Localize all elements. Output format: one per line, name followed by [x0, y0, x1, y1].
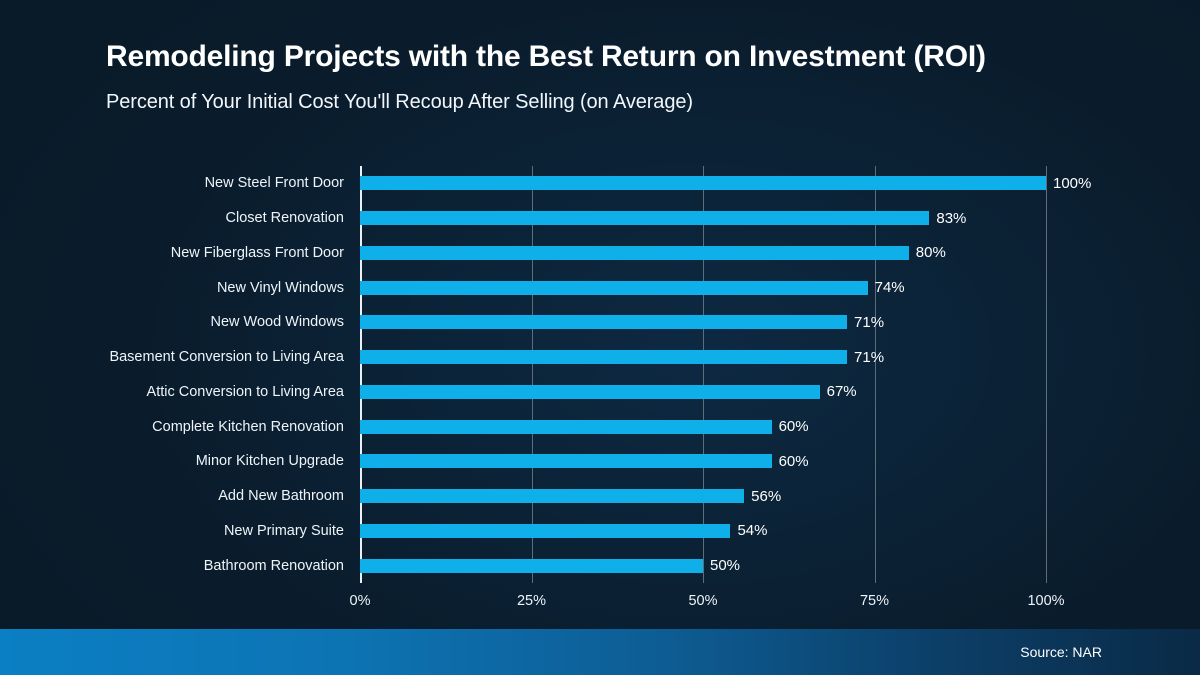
bar-value-label: 71% — [854, 315, 884, 330]
category-label: Basement Conversion to Living Area — [109, 340, 344, 375]
x-tick-label: 75% — [860, 593, 889, 609]
category-label: New Vinyl Windows — [217, 270, 344, 305]
x-tick-label: 25% — [517, 593, 546, 609]
bar[interactable] — [360, 454, 772, 468]
bar-row[interactable]: 83% — [360, 201, 1046, 236]
x-tick-label: 50% — [688, 593, 717, 609]
bar[interactable] — [360, 176, 1046, 190]
bar[interactable] — [360, 315, 847, 329]
bar-value-label: 83% — [936, 211, 966, 226]
bar-value-label: 74% — [875, 280, 905, 295]
category-label: New Steel Front Door — [205, 166, 344, 201]
bar-value-label: 71% — [854, 350, 884, 365]
x-tick-label: 100% — [1027, 593, 1064, 609]
source-label: Source: NAR — [1020, 644, 1102, 660]
category-label: New Wood Windows — [210, 305, 344, 340]
x-axis-tick-labels: 0%25%50%75%100% — [360, 585, 1046, 615]
bar[interactable] — [360, 559, 703, 573]
gridline — [1046, 166, 1047, 583]
bar-row[interactable]: 67% — [360, 375, 1046, 410]
bar[interactable] — [360, 281, 868, 295]
bar-row[interactable]: 71% — [360, 305, 1046, 340]
category-label: Add New Bathroom — [218, 479, 344, 514]
bar-value-label: 50% — [710, 558, 740, 573]
bar-row[interactable]: 50% — [360, 548, 1046, 583]
bar[interactable] — [360, 420, 772, 434]
bar-row[interactable]: 60% — [360, 444, 1046, 479]
category-label: Complete Kitchen Renovation — [152, 409, 344, 444]
category-axis-labels: New Steel Front DoorCloset RenovationNew… — [0, 166, 352, 583]
bar[interactable] — [360, 385, 820, 399]
x-tick-label: 0% — [350, 593, 371, 609]
bar-value-label: 56% — [751, 489, 781, 504]
bar-row[interactable]: 54% — [360, 514, 1046, 549]
bar-row[interactable]: 100% — [360, 166, 1046, 201]
category-label: Minor Kitchen Upgrade — [196, 444, 344, 479]
bar-value-label: 60% — [779, 454, 809, 469]
bar-row[interactable]: 74% — [360, 270, 1046, 305]
bar-row[interactable]: 80% — [360, 236, 1046, 271]
bar-row[interactable]: 56% — [360, 479, 1046, 514]
chart-header: Remodeling Projects with the Best Return… — [106, 40, 1166, 114]
bar-value-label: 67% — [827, 384, 857, 399]
bar-value-label: 60% — [779, 419, 809, 434]
category-label: New Fiberglass Front Door — [171, 236, 344, 271]
bar-value-label: 54% — [737, 523, 767, 538]
bar-row[interactable]: 60% — [360, 409, 1046, 444]
bar[interactable] — [360, 350, 847, 364]
page-title: Remodeling Projects with the Best Return… — [106, 40, 1166, 75]
bar[interactable] — [360, 211, 929, 225]
bar[interactable] — [360, 246, 909, 260]
chart-plot-area: 100%83%80%74%71%71%67%60%60%56%54%50% — [360, 166, 1046, 583]
category-label: Bathroom Renovation — [204, 548, 344, 583]
footer-bar: Source: NAR — [0, 629, 1200, 675]
category-label: New Primary Suite — [224, 514, 344, 549]
category-label: Attic Conversion to Living Area — [147, 375, 344, 410]
bar-value-label: 100% — [1053, 176, 1091, 191]
bar-value-label: 80% — [916, 245, 946, 260]
slide-canvas: Remodeling Projects with the Best Return… — [0, 0, 1200, 675]
bar[interactable] — [360, 489, 744, 503]
page-subtitle: Percent of Your Initial Cost You'll Reco… — [106, 91, 1166, 114]
bar-row[interactable]: 71% — [360, 340, 1046, 375]
category-label: Closet Renovation — [226, 201, 345, 236]
bar[interactable] — [360, 524, 730, 538]
